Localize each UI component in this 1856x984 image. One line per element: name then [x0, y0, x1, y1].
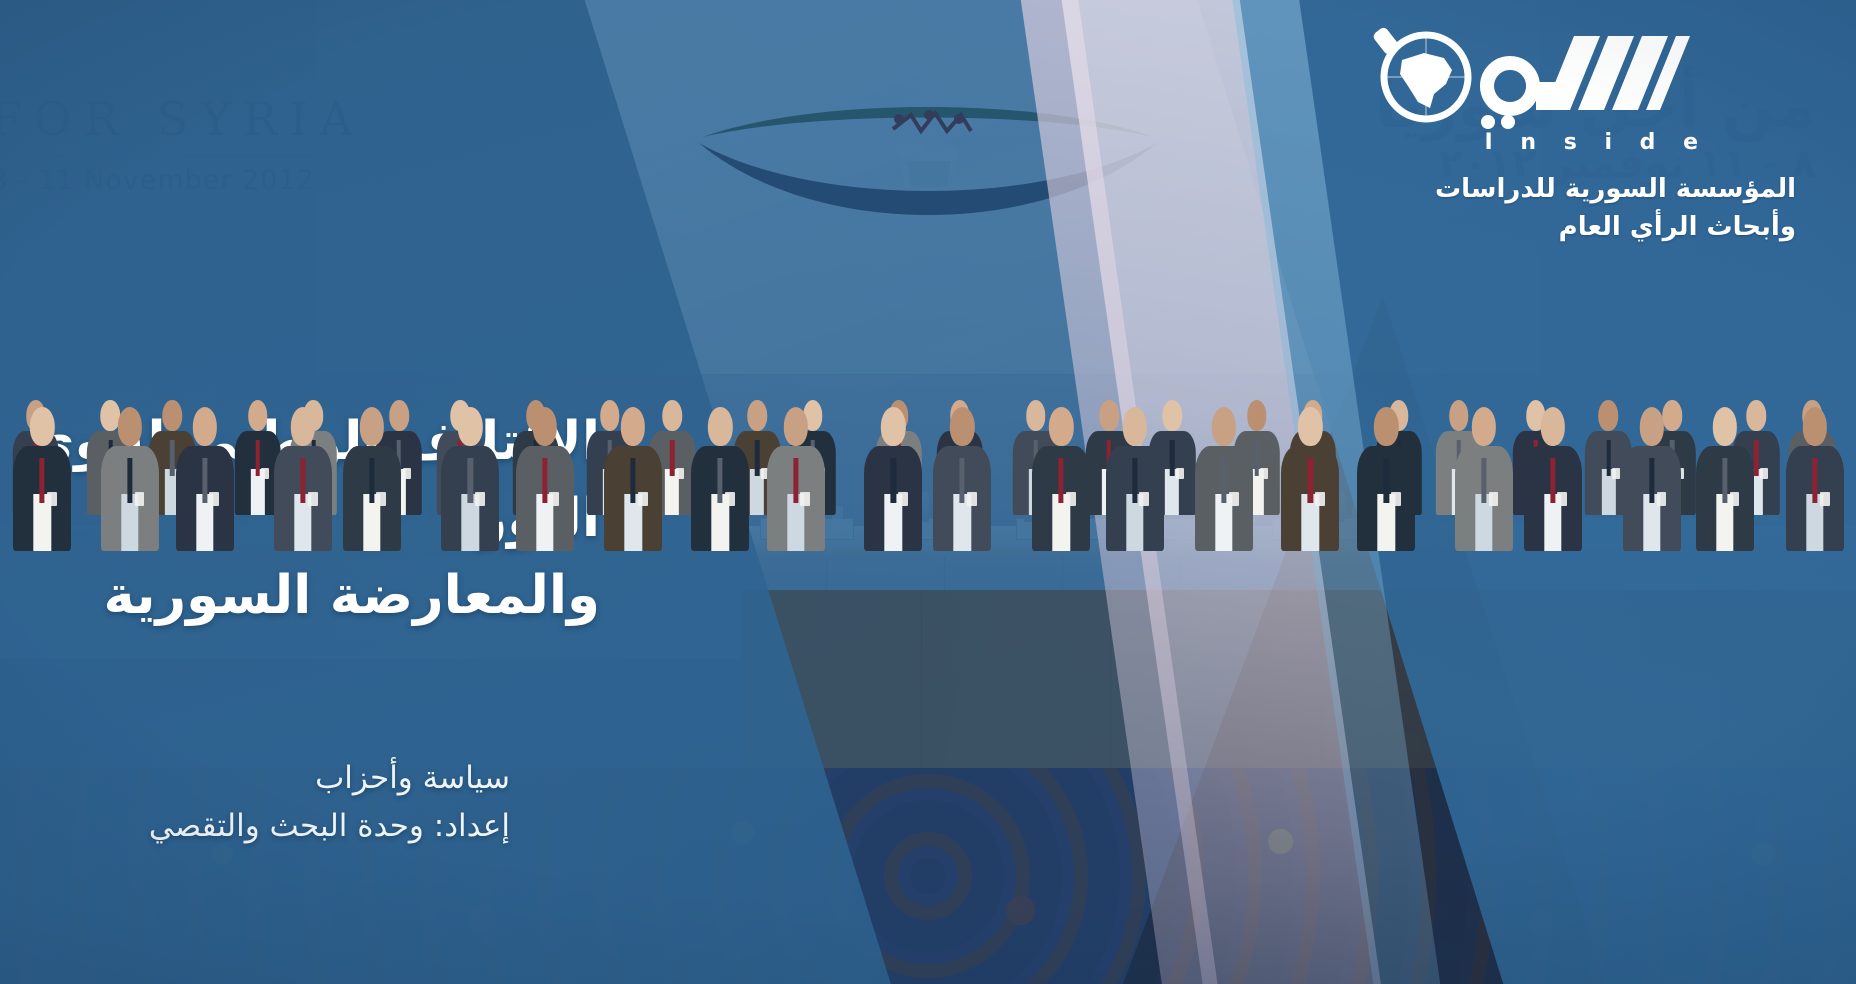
delegate: [1032, 401, 1090, 551]
delegate: [1524, 401, 1582, 551]
cover-card: FOR SYRIA 8 - 11 November 2012 من أجل سو…: [0, 0, 1856, 984]
delegate: [1281, 401, 1339, 551]
delegate: [933, 401, 991, 551]
org-name: المؤسسة السورية للدراسات وأبحاث الرأي ال…: [1360, 171, 1800, 246]
delegate: [1455, 401, 1513, 551]
delegate: [1195, 401, 1253, 551]
delegate: [767, 401, 825, 551]
credit-label: إعداد: وحدة البحث والتقصي: [20, 802, 510, 850]
org-name-line1: المؤسسة السورية للدراسات: [1360, 171, 1796, 209]
delegate: [516, 401, 574, 551]
delegate: [1106, 401, 1164, 551]
brand-logo[interactable]: I n s i d e المؤسسة السورية للدراسات وأب…: [1360, 22, 1800, 246]
delegate: [1786, 401, 1844, 551]
delegate: [864, 401, 922, 551]
logo-mark: [1360, 22, 1800, 138]
delegate: [274, 401, 332, 551]
delegate: [343, 401, 401, 551]
arabic-wordmark-icon: [1360, 22, 1690, 138]
syria-map-magnifier-icon: [1372, 26, 1468, 119]
delegate: [441, 401, 499, 551]
delegate: [1357, 401, 1415, 551]
delegate: [604, 401, 662, 551]
delegate: [176, 401, 234, 551]
headline-line-2: والمعارضة السورية: [20, 558, 600, 635]
delegate: [101, 401, 159, 551]
delegate: [13, 401, 71, 551]
org-name-line2: وأبحاث الرأي العام: [1360, 209, 1796, 247]
delegate: [691, 401, 749, 551]
meta-block: سياسة وأحزاب إعداد: وحدة البحث والتقصي: [20, 754, 510, 850]
delegate: [1623, 401, 1681, 551]
delegate: [1696, 401, 1754, 551]
category-label: سياسة وأحزاب: [315, 760, 510, 796]
